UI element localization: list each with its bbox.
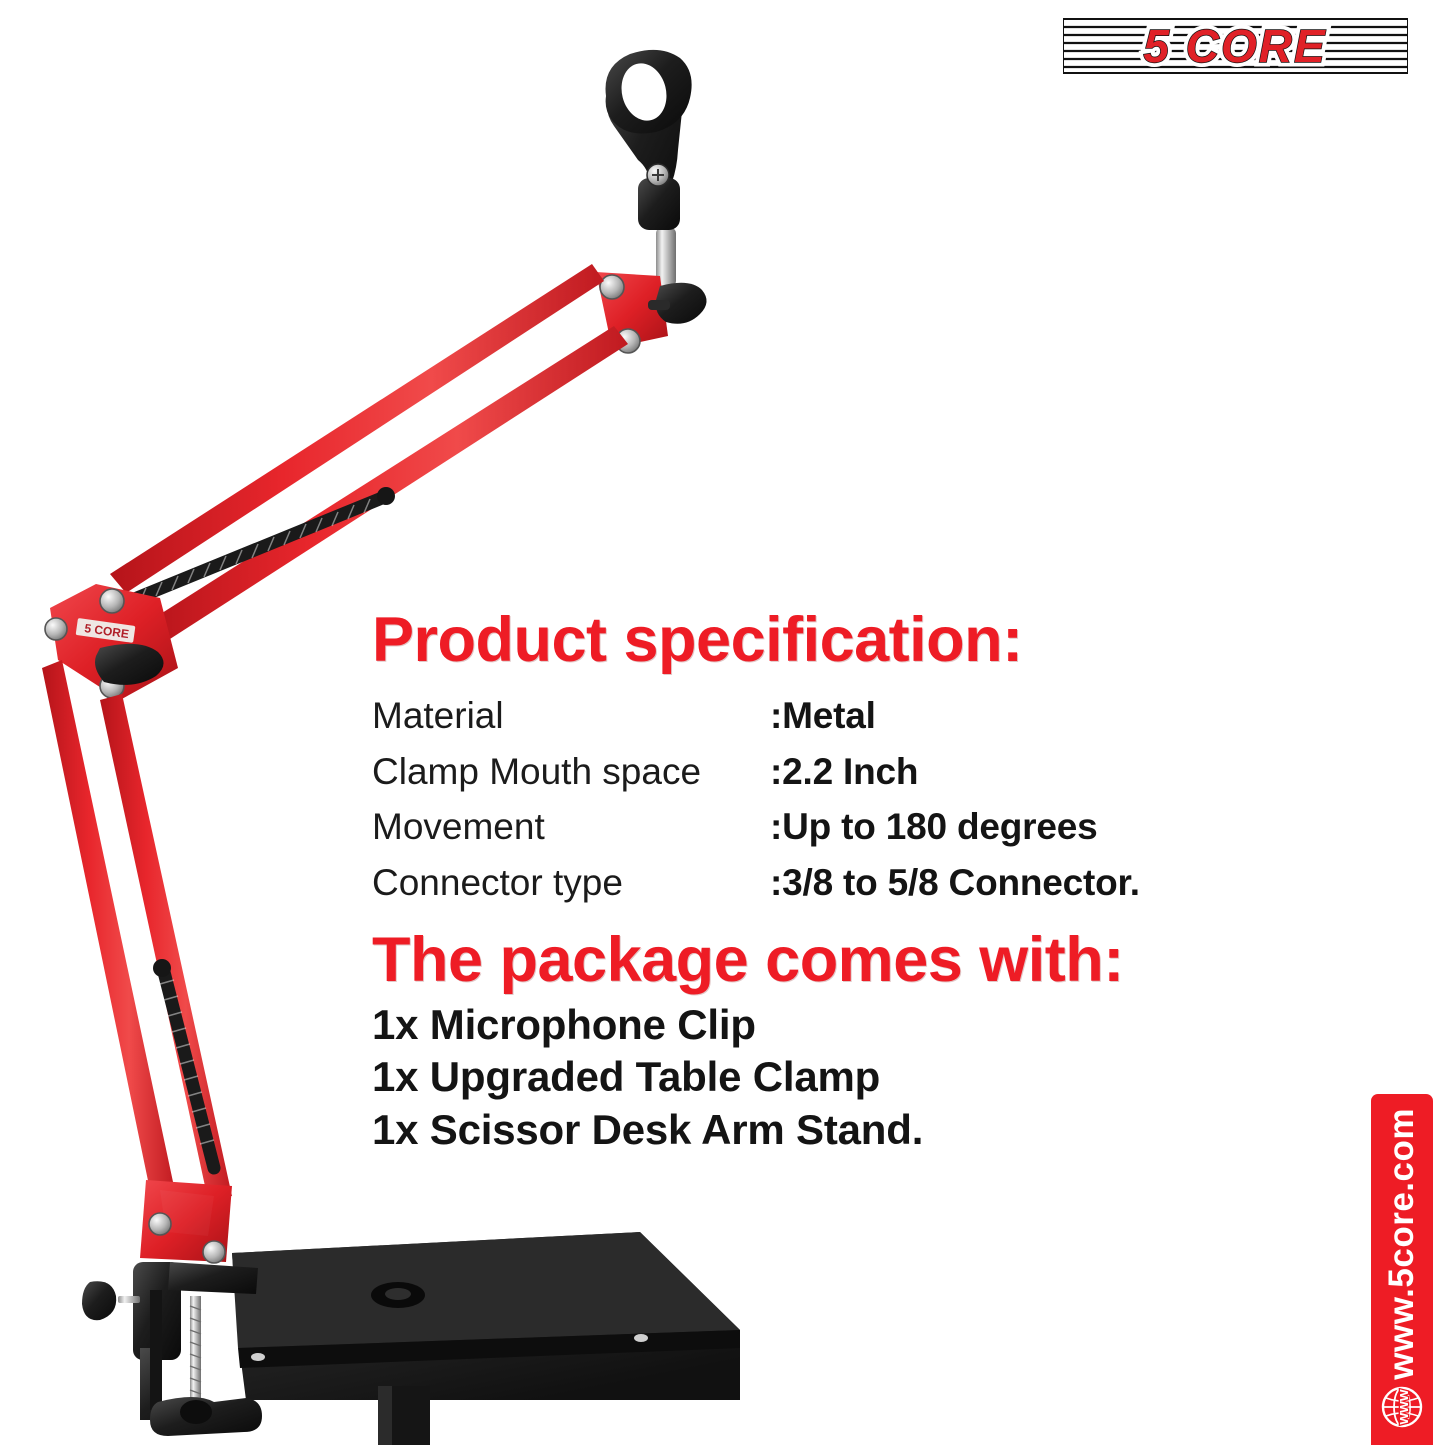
spec-value-movement: Up to 180 degrees bbox=[782, 799, 1140, 855]
spec-separator: : bbox=[770, 744, 782, 800]
joint-bolt-icon bbox=[100, 589, 124, 613]
spec-label-material: Material bbox=[372, 688, 770, 744]
product-spec-page: 5 CORE 5 CORE bbox=[0, 0, 1445, 1445]
spec-separator: : bbox=[770, 799, 782, 855]
spec-separator: : bbox=[770, 855, 782, 911]
package-contents-list: 1x Microphone Clip 1x Upgraded Table Cla… bbox=[372, 999, 1272, 1157]
package-item: 1x Upgraded Table Clamp bbox=[372, 1051, 1272, 1104]
spec-row-movement: Movement : Up to 180 degrees bbox=[372, 799, 1140, 855]
lower-scissor-arm bbox=[42, 660, 232, 1200]
spec-row-material: Material : Metal bbox=[372, 688, 1140, 744]
product-specification-heading: Product specification: bbox=[372, 608, 1272, 672]
table-clamp bbox=[82, 1262, 262, 1436]
spec-row-connector-type: Connector type : 3/8 to 5/8 Connector. bbox=[372, 855, 1140, 911]
bracket-bolt-icon bbox=[203, 1241, 225, 1263]
package-item: 1x Microphone Clip bbox=[372, 999, 1272, 1052]
www-globe-icon: www bbox=[1380, 1385, 1424, 1429]
bottom-bracket bbox=[140, 1180, 232, 1263]
brand-logo: 5 CORE 5 CORE bbox=[1063, 17, 1408, 75]
5-core-logo-icon: 5 CORE 5 CORE bbox=[1063, 17, 1408, 75]
svg-text:www: www bbox=[1395, 1389, 1412, 1425]
clamp-side-knob bbox=[82, 1281, 116, 1320]
spec-label-connector-type: Connector type bbox=[372, 855, 770, 911]
package-item: 1x Scissor Desk Arm Stand. bbox=[372, 1104, 1272, 1157]
spec-value-material: Metal bbox=[782, 688, 1140, 744]
bracket-bolt-icon bbox=[149, 1213, 171, 1235]
spec-label-movement: Movement bbox=[372, 799, 770, 855]
spec-row-clamp-mouth-space: Clamp Mouth space : 2.2 Inch bbox=[372, 744, 1140, 800]
package-contents-heading: The package comes with: bbox=[372, 928, 1272, 992]
spec-separator: : bbox=[770, 688, 782, 744]
joint-bolt-icon bbox=[45, 618, 67, 640]
spec-label-clamp-mouth-space: Clamp Mouth space bbox=[372, 744, 770, 800]
spec-value-connector-type: 3/8 to 5/8 Connector. bbox=[782, 855, 1140, 911]
table-top bbox=[232, 1232, 740, 1445]
pivot-bolt-icon bbox=[600, 275, 624, 299]
website-url-text: www.5core.com bbox=[1382, 1108, 1422, 1380]
spec-value-clamp-mouth-space: 2.2 Inch bbox=[782, 744, 1140, 800]
specification-panel: Product specification: Material : Metal … bbox=[372, 608, 1272, 1156]
microphone-clip bbox=[606, 50, 692, 286]
specification-table: Material : Metal Clamp Mouth space : 2.2… bbox=[372, 688, 1140, 910]
upper-scissor-arm bbox=[110, 264, 628, 648]
brand-logo-text: 5 CORE bbox=[1143, 20, 1326, 72]
website-banner: www.5core.com www bbox=[1371, 1094, 1433, 1445]
